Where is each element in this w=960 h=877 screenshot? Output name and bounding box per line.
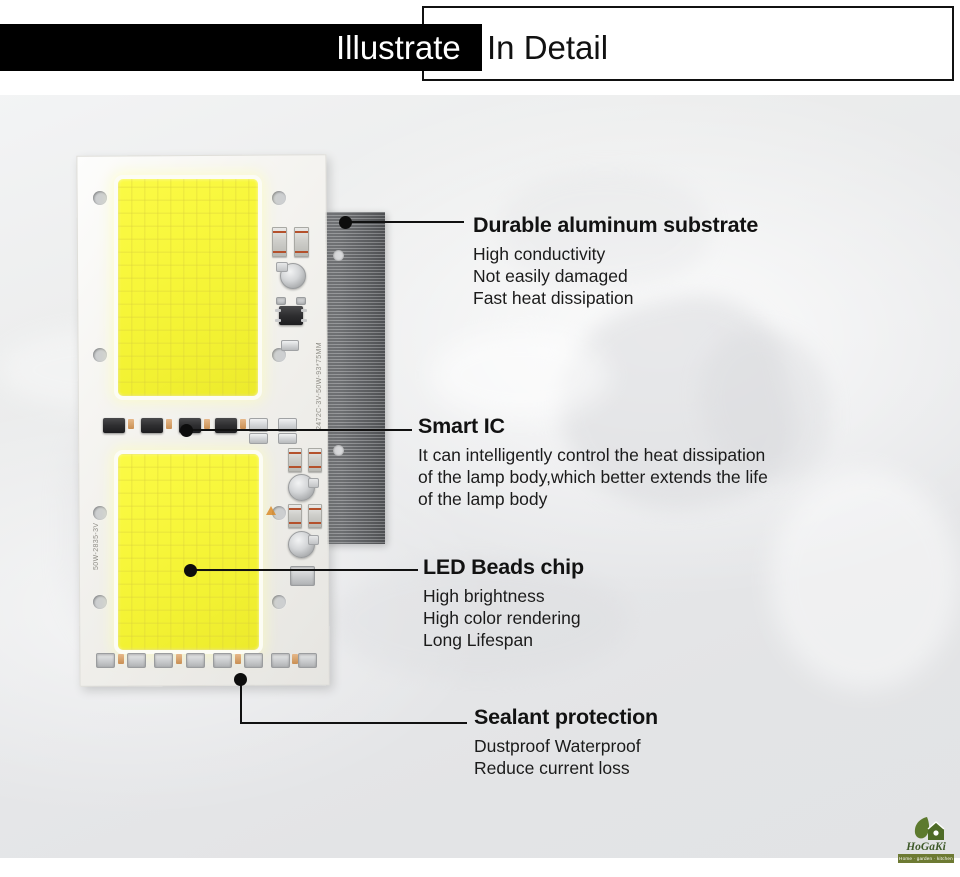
- resistor-component: [308, 448, 322, 472]
- callout-led-beads: LED Beads chip High brightness High colo…: [423, 556, 584, 651]
- background-highlight: [770, 470, 960, 690]
- callout-leader-smart-ic: [192, 429, 412, 431]
- solder-pad: [276, 297, 286, 305]
- solder-pad: [128, 419, 134, 429]
- callout-leader-substrate: [351, 221, 464, 223]
- callout-leader-sealant-horizontal: [240, 722, 467, 724]
- resistor-component: [272, 227, 287, 257]
- ic-pin: [275, 319, 281, 322]
- callout-line: of the lamp body,which better extends th…: [418, 466, 768, 488]
- substrate-mounting-hole: [333, 445, 344, 456]
- capacitor-tab: [276, 262, 288, 272]
- callout-dot-sealant: [234, 673, 247, 686]
- callout-line: of the lamp body: [418, 488, 768, 510]
- solder-pad: [240, 419, 246, 429]
- callout-line: Reduce current loss: [474, 757, 658, 779]
- ic-pin: [301, 309, 307, 312]
- pcb-mounting-hole: [272, 595, 286, 609]
- logo-wordmark: HoGaKi: [898, 841, 954, 853]
- smd-pad: [213, 653, 232, 668]
- pcb-silkscreen-right: 2472C-3V-50W-93*75MM: [316, 342, 323, 430]
- callout-dot-led-beads: [184, 564, 197, 577]
- substrate-mounting-hole: [333, 250, 344, 261]
- resistor-component: [288, 448, 302, 472]
- solder-pad: [204, 419, 210, 429]
- callout-line: Fast heat dissipation: [473, 287, 758, 309]
- smart-ic-chip: [103, 418, 125, 433]
- callout-line: Not easily damaged: [473, 265, 758, 287]
- capacitor-tab: [308, 535, 319, 545]
- header-title: Illustrate In Detail: [0, 24, 960, 71]
- callout-dot-smart-ic: [180, 424, 193, 437]
- header-banner: Illustrate In Detail: [0, 0, 960, 95]
- bottom-white-margin: [0, 858, 960, 877]
- brand-logo: HoGaKi Home · garden · kitchen: [898, 816, 954, 864]
- callout-title: Smart IC: [418, 415, 768, 438]
- callout-title: Durable aluminum substrate: [473, 214, 758, 237]
- smd-component: [281, 340, 299, 351]
- smart-ic-chip: [141, 418, 163, 433]
- smd-pad: [127, 653, 146, 668]
- smd-pad: [186, 653, 205, 668]
- header-title-highlight: Illustrate: [336, 24, 461, 71]
- callout-line: High conductivity: [473, 243, 758, 265]
- solder-pad: [292, 654, 298, 664]
- callout-line: High brightness: [423, 585, 584, 607]
- capacitor-tab: [308, 478, 319, 488]
- resistor-component: [288, 504, 302, 528]
- callout-body: High brightness High color rendering Lon…: [423, 585, 584, 651]
- leaf-house-icon: [908, 816, 946, 842]
- pcb-mounting-hole: [93, 506, 107, 520]
- pcb-mounting-hole: [93, 191, 107, 205]
- callout-line: Dustproof Waterproof: [474, 735, 658, 757]
- warning-triangle-icon: [266, 506, 276, 515]
- aluminum-substrate-strip: [325, 212, 385, 544]
- callout-leader-led-beads: [196, 569, 418, 571]
- pcb-mounting-hole: [93, 595, 107, 609]
- callout-body: Dustproof Waterproof Reduce current loss: [474, 735, 658, 779]
- callout-smart-ic: Smart IC It can intelligently control th…: [418, 415, 768, 510]
- smd-pad: [154, 653, 173, 668]
- solder-pad: [235, 654, 241, 664]
- smd-pad: [298, 653, 317, 668]
- header-title-rest: In Detail: [487, 24, 608, 71]
- resistor-component: [308, 504, 322, 528]
- pcb-mounting-hole: [272, 191, 286, 205]
- solder-pad: [176, 654, 182, 664]
- callout-title: LED Beads chip: [423, 556, 584, 579]
- ic-pin: [301, 319, 307, 322]
- background-highlight: [430, 330, 610, 420]
- smd-pad: [271, 653, 290, 668]
- solder-pad: [118, 654, 124, 664]
- infographic-page: Illustrate In Detail: [0, 0, 960, 877]
- callout-dot-substrate: [339, 216, 352, 229]
- ic-chip: [279, 306, 303, 325]
- resistor-array: [249, 433, 268, 444]
- callout-substrate: Durable aluminum substrate High conducti…: [473, 214, 758, 309]
- callout-body: It can intelligently control the heat di…: [418, 444, 768, 510]
- smd-pad: [96, 653, 115, 668]
- resistor-array: [278, 433, 297, 444]
- solder-pad: [296, 297, 306, 305]
- resistor-component: [294, 227, 309, 257]
- pcb-mounting-hole: [93, 348, 107, 362]
- pcb-silkscreen-left: 50W-2835-3V: [93, 523, 100, 570]
- cob-led-chip-top: [114, 175, 262, 400]
- cob-led-chip-bottom: [114, 450, 263, 654]
- callout-title: Sealant protection: [474, 706, 658, 729]
- callout-leader-sealant-vertical: [240, 681, 242, 723]
- callout-line: Long Lifespan: [423, 629, 584, 651]
- smd-pad: [244, 653, 263, 668]
- callout-body: High conductivity Not easily damaged Fas…: [473, 243, 758, 309]
- logo-tagline: Home · garden · kitchen: [898, 854, 954, 863]
- callout-sealant: Sealant protection Dustproof Waterproof …: [474, 706, 658, 779]
- callout-line: It can intelligently control the heat di…: [418, 444, 768, 466]
- ic-pin: [275, 309, 281, 312]
- smart-ic-chip: [215, 418, 237, 433]
- callout-line: High color rendering: [423, 607, 584, 629]
- solder-pad: [166, 419, 172, 429]
